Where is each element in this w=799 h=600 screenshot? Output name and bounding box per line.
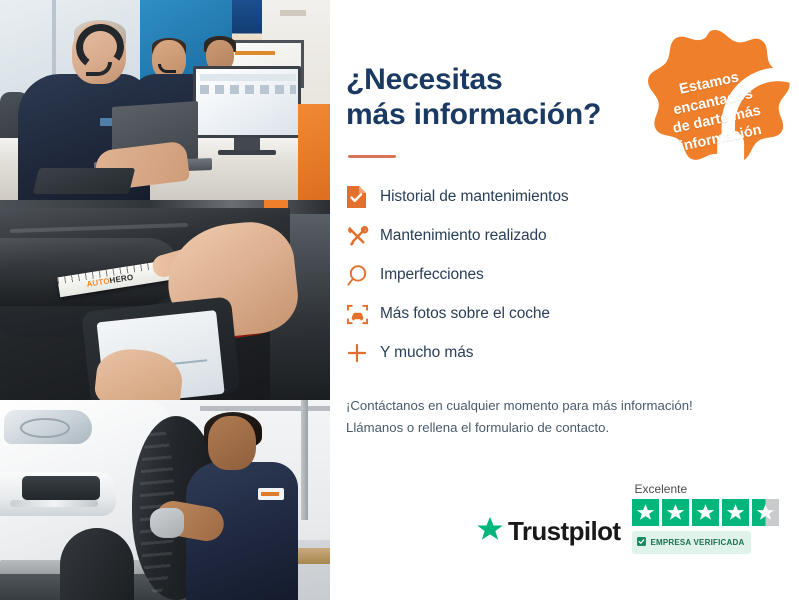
monitor-stand: [234, 138, 260, 154]
chrome-trim: [10, 500, 98, 507]
desk-tablet: [33, 168, 135, 194]
trustpilot-rating-block: Excelente: [632, 482, 779, 554]
magnifier-icon: [346, 264, 380, 287]
contact-line-2: Llámanos o rellena el formulario de cont…: [346, 417, 766, 440]
trustpilot-star-icon: [476, 515, 504, 548]
uniform-logo: [258, 488, 284, 500]
orange-accent-chip: [264, 200, 288, 208]
trustpilot-widget[interactable]: Trustpilot Excelente: [476, 482, 779, 554]
document-check-icon: [346, 185, 380, 209]
features-list: Historial de mantenimientos Mantenimient…: [346, 178, 773, 373]
trustpilot-logo[interactable]: Trustpilot: [476, 515, 620, 554]
headline-line-1: ¿Necesitas: [346, 62, 636, 97]
status-badge: Estamos encantados de darte más informac…: [639, 27, 791, 179]
photo-column: AUTOHERO: [0, 0, 330, 600]
feature-label: Más fotos sobre el coche: [380, 305, 550, 323]
air-intake: [22, 476, 100, 500]
trustpilot-rating-label: Excelente: [632, 482, 687, 496]
headline-line-2: más información?: [346, 97, 636, 132]
feature-label: Y mucho más: [380, 344, 473, 362]
contact-paragraph: ¡Contáctanos en cualquier momento para m…: [346, 395, 766, 440]
feature-item-much-more: Y mucho más: [346, 334, 773, 373]
call-center-agents-photo: [0, 0, 330, 200]
content-panel: ¿Necesitas más información? Historial de…: [330, 0, 799, 600]
star-half: [752, 499, 779, 526]
car-photo-icon: [346, 303, 380, 326]
feature-item-imperfections: Imperfecciones: [346, 256, 773, 295]
verified-company-label: EMPRESA VERIFICADA: [650, 538, 744, 547]
trustpilot-wordmark: Trustpilot: [508, 516, 620, 547]
mechanic-head: [208, 416, 256, 470]
tools-icon: [346, 225, 380, 248]
vehicle-inspection-photo: AUTOHERO: [0, 200, 330, 400]
panel-gap: [10, 223, 188, 233]
mechanic-glove: [150, 508, 184, 538]
ceiling-beam: [200, 406, 330, 411]
orange-equipment: [298, 104, 330, 200]
verified-company-badge: EMPRESA VERIFICADA: [632, 531, 751, 554]
page-title: ¿Necesitas más información?: [346, 62, 636, 133]
contact-line-1: ¡Contáctanos en cualquier momento para m…: [346, 395, 766, 418]
verified-check-icon: [637, 533, 646, 551]
trustpilot-stars: [632, 499, 779, 526]
star-filled: [692, 499, 719, 526]
feature-label: Imperfecciones: [380, 266, 484, 284]
car-headlight: [4, 410, 92, 444]
title-underline-divider: [348, 155, 396, 158]
star-filled: [722, 499, 749, 526]
feature-item-more-photos: Más fotos sobre el coche: [346, 295, 773, 334]
foreground-monitor: [193, 66, 301, 138]
star-filled: [632, 499, 659, 526]
plus-icon: [346, 342, 380, 364]
information-banner: AUTOHERO: [0, 0, 799, 600]
wall-pipe: [301, 400, 308, 520]
feature-label: Historial de mantenimientos: [380, 188, 569, 206]
feature-item-maintenance-done: Mantenimiento realizado: [346, 217, 773, 256]
star-filled: [662, 499, 689, 526]
rear-tire: [60, 528, 134, 600]
mechanic-wheel-photo: [0, 400, 330, 600]
feature-label: Mantenimiento realizado: [380, 227, 547, 245]
